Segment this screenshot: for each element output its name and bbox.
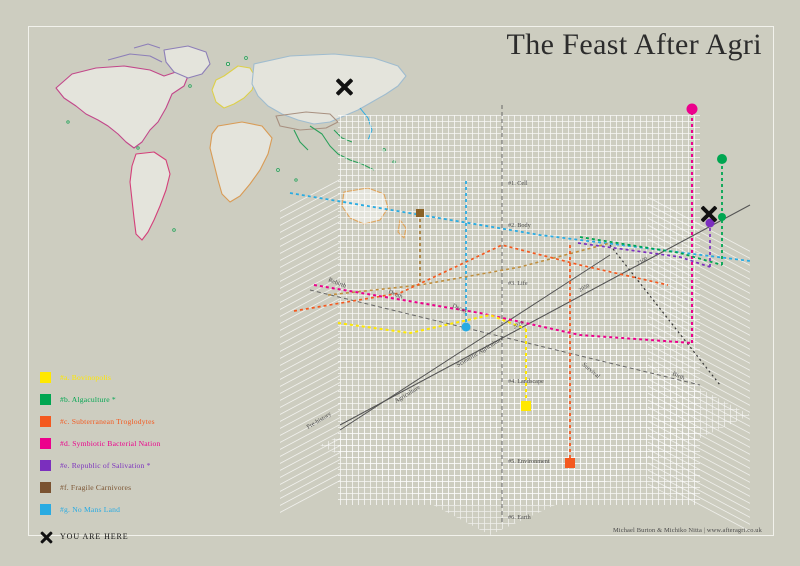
legend-label-algaculture: #b. Algaculture * [60, 395, 116, 404]
datapoint-bacterial [687, 104, 698, 115]
datapoint-carnivores [416, 209, 424, 217]
x-marker-icon [40, 531, 51, 542]
legend-label-carnivores: #f. Fragile Carnivores [60, 483, 131, 492]
legend-item-you-are-here: YOU ARE HERE [40, 523, 250, 549]
legend-item-algaculture[interactable]: #b. Algaculture * [40, 388, 250, 410]
legend-swatch-bovinopolis [40, 372, 51, 383]
scale-tick-body: #2. Body [508, 222, 532, 229]
legend-label-salivation: #e. Republic of Salivation * [60, 461, 151, 470]
poster-canvas: The Feast After Agri [0, 0, 800, 566]
scale-tick-cell: #1. Cell [508, 180, 528, 187]
datapoint-algaculture [717, 154, 727, 164]
scale-tick-life: #3. Life [508, 280, 528, 287]
datapoint-bovinopolis [521, 401, 531, 411]
chart-you-are-here-marker [700, 205, 717, 222]
datapoint-algaculture-lower [718, 213, 726, 221]
legend-swatch-carnivores [40, 482, 51, 493]
map-region-north-america [56, 66, 188, 148]
legend-item-nomansland[interactable]: #g. No Mans Land [40, 498, 250, 520]
legend-swatch-troglodytes [40, 416, 51, 427]
legend-label-bovinopolis: #a. Bovinopolis [60, 373, 111, 382]
page-title: The Feast After Agri [507, 28, 762, 62]
legend: #a. Bovinopolis #b. Algaculture * #c. Su… [40, 366, 250, 549]
mesh-plane-left [280, 177, 340, 515]
legend-swatch-algaculture [40, 394, 51, 405]
datapoint-troglodytes [565, 458, 575, 468]
legend-item-troglodytes[interactable]: #c. Subterranean Troglodytes [40, 410, 250, 432]
map-region-south-america [130, 152, 170, 240]
legend-item-bacterial-nation[interactable]: #d. Symbiotic Bacterial Nation [40, 432, 250, 454]
legend-item-carnivores[interactable]: #f. Fragile Carnivores [40, 476, 250, 498]
legend-swatch-nomansland [40, 504, 51, 515]
legend-label-troglodytes: #c. Subterranean Troglodytes [60, 417, 155, 426]
map-region-europe [212, 66, 256, 108]
legend-label-bacterial-nation: #d. Symbiotic Bacterial Nation [60, 439, 160, 448]
legend-item-bovinopolis[interactable]: #a. Bovinopolis [40, 366, 250, 388]
legend-label-nomansland: #g. No Mans Land [60, 505, 120, 514]
three-axis-diagram: #1. Cell #2. Body #3. Life #4. Landscape… [280, 85, 780, 545]
scale-tick-landscape: #4. Landscape [508, 378, 544, 385]
map-region-arctic-islands [108, 44, 162, 62]
map-region-africa [210, 122, 272, 202]
datapoint-nomansland [462, 323, 471, 332]
mesh-plane-right [648, 197, 750, 535]
credit-line: Michael Burton & Michiko Nitta | www.aft… [613, 527, 762, 534]
legend-swatch-salivation [40, 460, 51, 471]
legend-item-salivation[interactable]: #e. Republic of Salivation * [40, 454, 250, 476]
legend-swatch-bacterial-nation [40, 438, 51, 449]
scale-tick-earth: #6. Earth [508, 514, 532, 521]
legend-label-you-are-here: YOU ARE HERE [60, 532, 129, 541]
scale-tick-environment: #5. Environment [508, 458, 550, 465]
